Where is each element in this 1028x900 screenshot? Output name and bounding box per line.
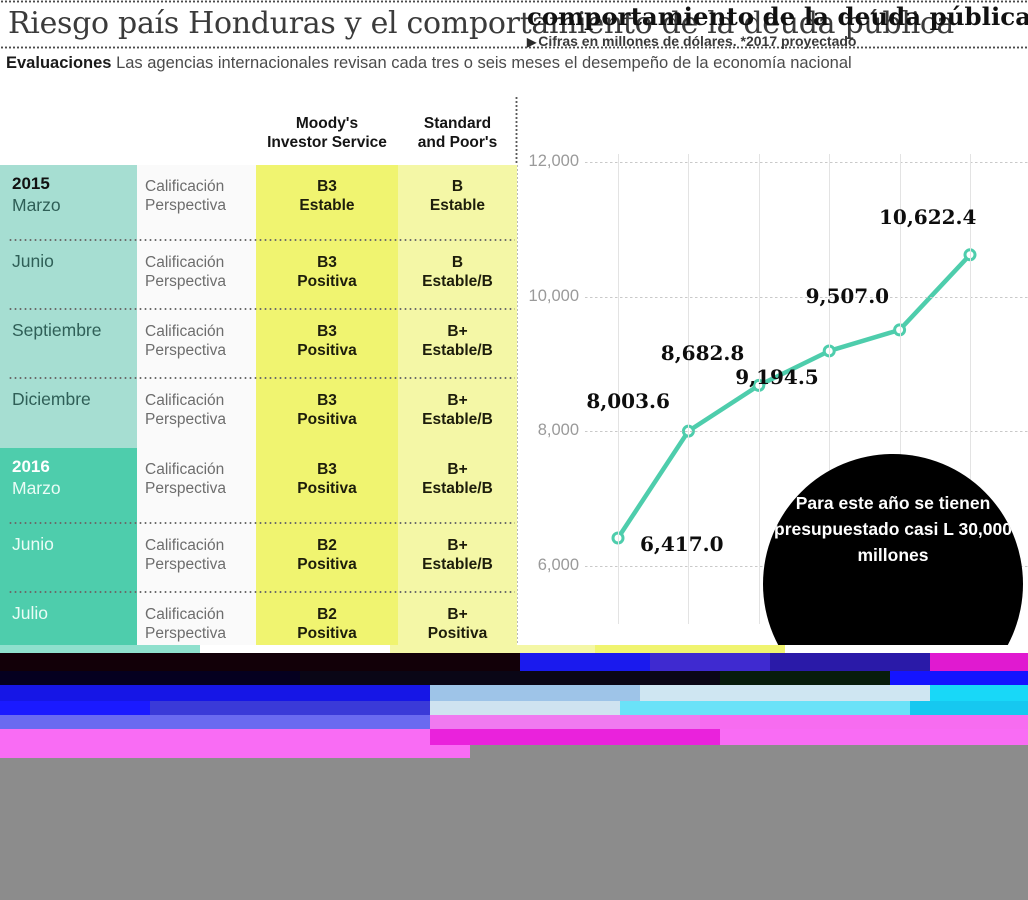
row-period-cell: Junio — [0, 524, 137, 593]
glitch-band — [0, 671, 300, 685]
deck-lead: Evaluaciones — [6, 54, 111, 72]
table-row: JulioCalificaciónPerspectivaB2PositivaB+… — [0, 593, 517, 645]
moodys-outlook: Positiva — [256, 341, 398, 360]
label-calificacion: Calificación — [145, 322, 256, 341]
sp-outlook: Estable/B — [398, 272, 517, 291]
row-month: Marzo — [12, 194, 137, 217]
row-period-cell: Julio — [0, 593, 137, 645]
glitch-band — [430, 729, 720, 745]
glitch-band — [620, 701, 910, 715]
moodys-outlook: Positiva — [256, 624, 398, 643]
col-header-sp: Standard and Poor's — [398, 114, 517, 152]
row-metric-labels: CalificaciónPerspectiva — [137, 448, 256, 524]
glitch-band — [430, 701, 620, 715]
moodys-outlook: Estable — [256, 196, 398, 215]
table-row: JunioCalificaciónPerspectivaB3PositivaBE… — [0, 241, 517, 310]
chart-subtitle: ▶Cifras en millones de dólares. *2017 pr… — [527, 33, 1028, 49]
sp-cell: B+Estable/B — [398, 524, 517, 593]
label-perspectiva: Perspectiva — [145, 196, 256, 215]
data-point-label: 9,507.0 — [806, 284, 890, 308]
glitch-band — [0, 745, 470, 758]
ratings-table-panel: Moody's Investor Service Standard and Po… — [0, 96, 517, 645]
label-calificacion: Calificación — [145, 605, 256, 624]
row-separator — [8, 308, 515, 310]
glitch-band — [0, 715, 430, 729]
moodys-cell: B3Positiva — [256, 310, 398, 379]
row-month: Diciembre — [12, 388, 137, 411]
y-axis-tick-label: 6,000 — [519, 556, 579, 575]
moodys-cell: B2Positiva — [256, 524, 398, 593]
row-month: Marzo — [12, 477, 137, 500]
sp-outlook: Positiva — [398, 624, 517, 643]
label-calificacion: Calificación — [145, 460, 256, 479]
label-calificacion: Calificación — [145, 253, 256, 272]
label-calificacion: Calificación — [145, 177, 256, 196]
sp-rating: B+ — [398, 536, 517, 555]
image-corruption-artifact — [0, 645, 1028, 758]
moodys-cell: B3Positiva — [256, 448, 398, 524]
chart-title: comportamiento de la deuda pública — [527, 3, 1028, 31]
label-perspectiva: Perspectiva — [145, 410, 256, 429]
sp-outlook: Estable/B — [398, 555, 517, 574]
sp-cell: B+Positiva — [398, 593, 517, 645]
glitch-band — [720, 671, 890, 685]
y-axis-tick-label: 12,000 — [519, 152, 579, 171]
glitch-band — [890, 671, 1028, 685]
row-separator — [8, 522, 515, 524]
glitch-band — [390, 645, 595, 653]
table-row: SeptiembreCalificaciónPerspectivaB3Posit… — [0, 310, 517, 379]
deck-body: Las agencias internacionales revisan cad… — [111, 54, 851, 72]
moodys-rating: B2 — [256, 605, 398, 624]
row-month: Junio — [12, 533, 137, 556]
infographic-page: Riesgo país Honduras y el comportamiento… — [0, 0, 1028, 645]
moodys-rating: B3 — [256, 460, 398, 479]
glitch-band — [200, 645, 390, 653]
moodys-rating: B3 — [256, 322, 398, 341]
glitch-band — [430, 715, 700, 729]
sp-outlook: Estable/B — [398, 410, 517, 429]
moodys-cell: B2Positiva — [256, 593, 398, 645]
row-year: 2016 — [12, 457, 137, 477]
row-metric-labels: CalificaciónPerspectiva — [137, 593, 256, 645]
label-perspectiva: Perspectiva — [145, 624, 256, 643]
row-month: Junio — [12, 250, 137, 273]
moodys-rating: B2 — [256, 536, 398, 555]
glitch-band — [720, 729, 1028, 745]
moodys-rating: B3 — [256, 253, 398, 272]
data-point-label: 10,622.4 — [879, 205, 976, 229]
sp-rating: B+ — [398, 322, 517, 341]
glitch-band — [640, 685, 930, 701]
glitch-band — [150, 701, 430, 715]
moodys-cell: B3Positiva — [256, 241, 398, 310]
row-metric-labels: CalificaciónPerspectiva — [137, 379, 256, 448]
glitch-band — [700, 715, 1028, 729]
triangle-bullet-icon: ▶ — [527, 35, 536, 49]
row-period-cell: Diciembre — [0, 379, 137, 448]
glitch-band — [910, 701, 1028, 715]
label-perspectiva: Perspectiva — [145, 341, 256, 360]
moodys-rating: B3 — [256, 391, 398, 410]
glitch-band — [785, 645, 1028, 653]
col-header-sp-line1: Standard — [398, 114, 517, 133]
sp-cell: BEstable — [398, 165, 517, 241]
glitch-band — [0, 685, 430, 701]
table-header: Moody's Investor Service Standard and Po… — [0, 96, 517, 165]
data-point-label: 6,417.0 — [640, 532, 724, 556]
moodys-cell: B3Estable — [256, 165, 398, 241]
glitch-band — [770, 653, 930, 671]
data-point-label: 8,003.6 — [586, 389, 670, 413]
moodys-cell: B3Positiva — [256, 379, 398, 448]
row-metric-labels: CalificaciónPerspectiva — [137, 165, 256, 241]
glitch-band — [300, 671, 720, 685]
moodys-outlook: Positiva — [256, 410, 398, 429]
sp-cell: B+Estable/B — [398, 448, 517, 524]
sp-rating: B+ — [398, 391, 517, 410]
row-month: Julio — [12, 602, 137, 625]
moodys-outlook: Positiva — [256, 555, 398, 574]
table-row: 2015MarzoCalificaciónPerspectivaB3Establ… — [0, 165, 517, 241]
sp-rating: B+ — [398, 605, 517, 624]
sp-cell: B+Estable/B — [398, 379, 517, 448]
glitch-band — [520, 653, 650, 671]
moodys-outlook: Positiva — [256, 479, 398, 498]
x-gridline — [759, 154, 760, 624]
row-period-cell: Septiembre — [0, 310, 137, 379]
table-row: 2016MarzoCalificaciónPerspectivaB3Positi… — [0, 448, 517, 524]
debt-chart-panel: comportamiento de la deuda pública ▶Cifr… — [519, 96, 1028, 645]
glitch-band — [650, 653, 770, 671]
glitch-band — [430, 685, 640, 701]
row-separator — [8, 239, 515, 241]
y-gridline — [585, 162, 1028, 163]
row-metric-labels: CalificaciónPerspectiva — [137, 241, 256, 310]
y-gridline — [585, 431, 1028, 432]
sp-cell: BEstable/B — [398, 241, 517, 310]
col-header-moodys-line2: Investor Service — [256, 133, 398, 152]
glitch-band — [0, 701, 150, 715]
ratings-table: 2015MarzoCalificaciónPerspectivaB3Establ… — [0, 165, 517, 645]
col-header-moodys-line1: Moody's — [256, 114, 398, 133]
moodys-outlook: Positiva — [256, 272, 398, 291]
sp-cell: B+Estable/B — [398, 310, 517, 379]
sp-rating: B — [398, 177, 517, 196]
sp-outlook: Estable/B — [398, 341, 517, 360]
sp-rating: B — [398, 253, 517, 272]
sp-rating: B+ — [398, 460, 517, 479]
glitch-band — [930, 685, 1028, 701]
row-metric-labels: CalificaciónPerspectiva — [137, 310, 256, 379]
sp-outlook: Estable/B — [398, 479, 517, 498]
col-header-moodys: Moody's Investor Service — [256, 114, 398, 152]
col-header-sp-line2: and Poor's — [398, 133, 517, 152]
glitch-band — [470, 745, 1028, 758]
glitch-band — [0, 653, 520, 671]
data-point-label: 8,682.8 — [661, 341, 745, 365]
glitch-band — [930, 653, 1028, 671]
row-period-cell: 2016Marzo — [0, 448, 137, 524]
y-axis-tick-label: 8,000 — [519, 421, 579, 440]
row-period-cell: Junio — [0, 241, 137, 310]
label-perspectiva: Perspectiva — [145, 555, 256, 574]
glitch-band — [0, 729, 430, 745]
label-perspectiva: Perspectiva — [145, 479, 256, 498]
content-columns: Moody's Investor Service Standard and Po… — [0, 96, 1028, 645]
deck-text: Evaluaciones Las agencias internacionale… — [0, 49, 979, 74]
moodys-rating: B3 — [256, 177, 398, 196]
y-axis-tick-label: 10,000 — [519, 287, 579, 306]
chart-subtitle-text: Cifras en millones de dólares. *2017 pro… — [538, 33, 856, 49]
row-separator — [8, 591, 515, 593]
row-year: 2015 — [12, 174, 137, 194]
row-period-cell: 2015Marzo — [0, 165, 137, 241]
label-calificacion: Calificación — [145, 391, 256, 410]
row-separator — [8, 377, 515, 379]
sp-outlook: Estable — [398, 196, 517, 215]
label-calificacion: Calificación — [145, 536, 256, 555]
glitch-band — [0, 645, 200, 653]
row-month: Septiembre — [12, 319, 137, 342]
table-row: DiciembreCalificaciónPerspectivaB3Positi… — [0, 379, 517, 448]
label-perspectiva: Perspectiva — [145, 272, 256, 291]
row-metric-labels: CalificaciónPerspectiva — [137, 524, 256, 593]
table-row: JunioCalificaciónPerspectivaB2PositivaB+… — [0, 524, 517, 593]
data-point-label: 9,194.5 — [735, 365, 819, 389]
glitch-band — [595, 645, 785, 653]
